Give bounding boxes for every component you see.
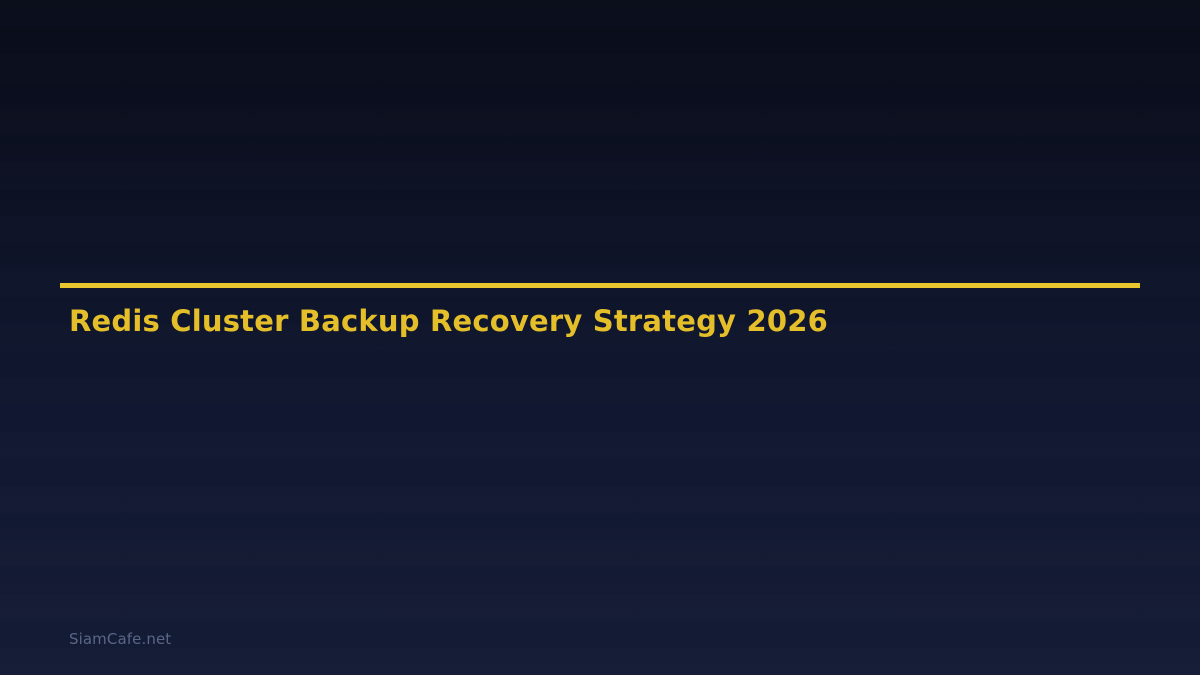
slide-canvas: Redis Cluster Backup Recovery Strategy 2… <box>0 0 1200 675</box>
page-title: Redis Cluster Backup Recovery Strategy 2… <box>69 305 828 338</box>
footer-brand-label: SiamCafe.net <box>69 630 171 648</box>
title-block: Redis Cluster Backup Recovery Strategy 2… <box>60 283 1140 288</box>
gold-accent-rule <box>60 283 1140 288</box>
